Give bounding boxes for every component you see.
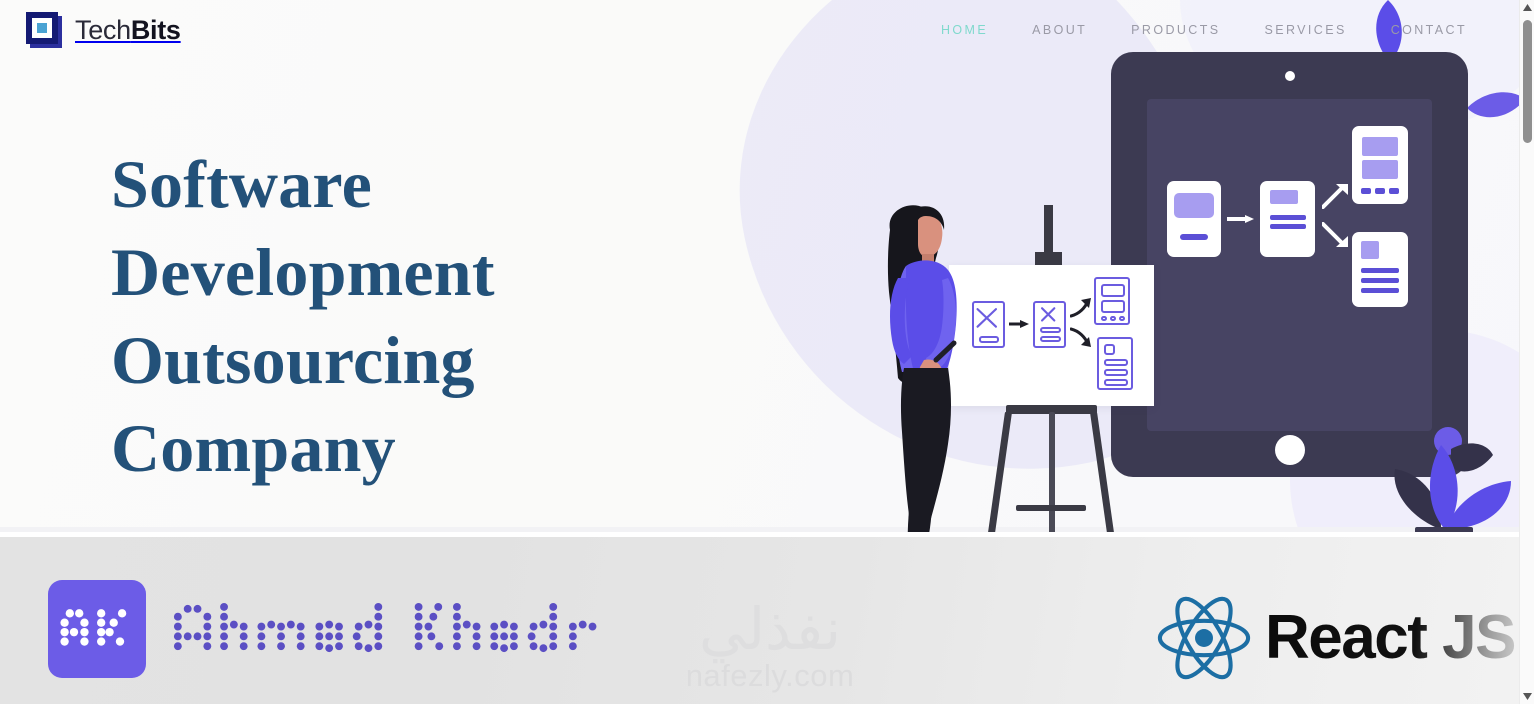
react-atom-icon [1155,593,1253,683]
flow-card-start [1167,181,1221,257]
wireframe-sketch-3 [1094,277,1130,325]
caret-down-icon [1523,693,1532,700]
easel-crossbar [1016,505,1086,511]
flow-card-middle [1260,181,1315,257]
nav-item-products[interactable]: PRODUCTS [1131,23,1220,37]
page-title-line-2: Outsourcing Company [111,316,751,492]
brand-logo-link[interactable]: TechBits [26,12,181,48]
scroll-down-button[interactable] [1520,689,1534,704]
purple-leaf-right-icon [1467,92,1519,124]
tablet-home-button-icon [1275,435,1305,465]
brand-name-bold: Bits [131,15,181,45]
sketch-arrow-up-right-icon [1070,298,1092,318]
brand-name: TechBits [75,15,181,46]
react-js-logo: React JS [1155,578,1515,698]
nested-square-logo-icon [26,12,62,48]
scroll-up-button[interactable] [1520,0,1534,15]
signature-dot-matrix-icon [170,597,622,660]
flow-card-bottom-right [1352,232,1408,307]
page-title-line-1: Software Development [111,140,751,316]
scrollbar-thumb[interactable] [1523,20,1532,143]
nav-item-about[interactable]: ABOUT [1032,23,1087,37]
sketch-arrow-right-icon [1009,320,1029,328]
hero-illustration [740,0,1519,600]
flow-arrow-down-right-icon [1322,222,1350,248]
wireframe-sketch-4 [1097,337,1133,390]
react-js-label: React JS [1265,607,1515,669]
vertical-scrollbar[interactable] [1519,0,1534,704]
flow-card-top-right [1352,126,1408,204]
signature-ahmed-khedr [170,592,622,664]
sketch-arrow-down-right-icon [1070,327,1092,347]
brand-name-light: Tech [75,15,131,45]
nav-item-home[interactable]: HOME [941,23,988,37]
flow-arrow-right-icon [1227,214,1255,224]
wireframe-sketch-2 [1033,301,1066,348]
flow-arrow-up-right-icon [1322,183,1350,209]
tablet-camera-icon [1285,71,1295,81]
main-navigation: HOME ABOUT PRODUCTS SERVICES CONTACT [941,23,1467,37]
website-page: TechBits HOME ABOUT PRODUCTS SERVICES CO… [0,0,1519,704]
page-title: Software Development Outsourcing Company [111,140,751,492]
caret-up-icon [1523,4,1532,11]
nafezly-watermark: نفذلي nafezly.com [660,586,880,704]
nafezly-watermark-arabic: نفذلي [699,600,841,658]
ak-logo-badge [48,580,146,678]
ak-dot-matrix-icon [59,606,135,652]
overlay-separator [0,532,1519,537]
nav-item-services[interactable]: SERVICES [1265,23,1347,37]
nav-item-contact[interactable]: CONTACT [1391,23,1467,37]
tablet-screen [1147,99,1432,431]
site-header: TechBits HOME ABOUT PRODUCTS SERVICES CO… [0,0,1519,60]
nafezly-watermark-latin: nafezly.com [686,660,855,691]
browser-viewport: TechBits HOME ABOUT PRODUCTS SERVICES CO… [0,0,1534,704]
tablet-device [1111,52,1468,477]
